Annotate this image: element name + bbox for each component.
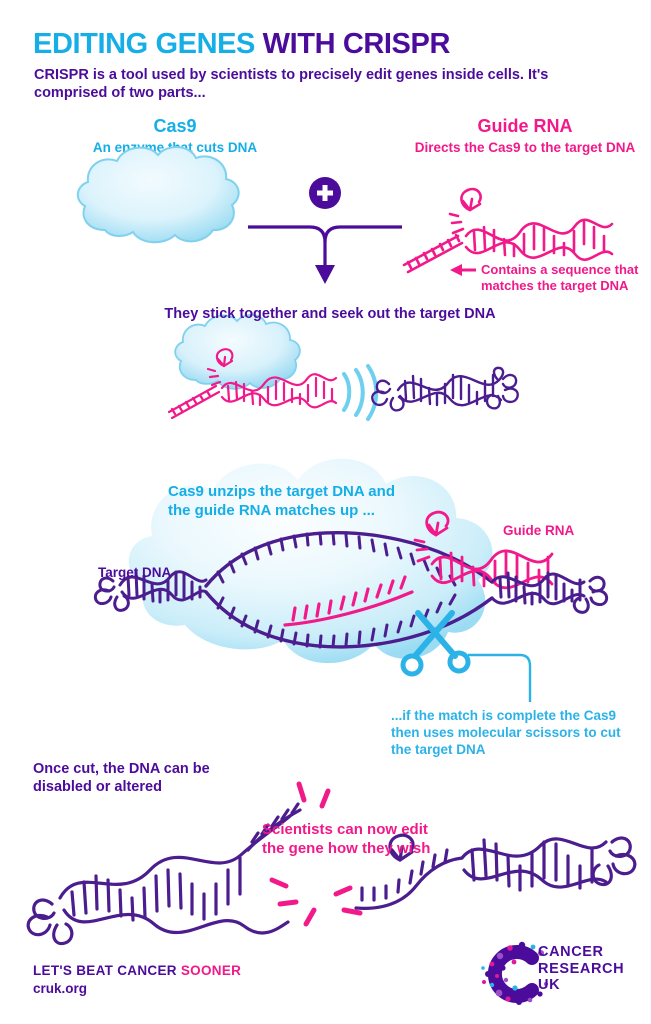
- once-cut-note: Once cut, the DNA can be disabled or alt…: [33, 760, 253, 796]
- tagline-accent: SOONER: [181, 963, 241, 978]
- cas9-cloud-icon-small: [175, 315, 300, 389]
- scissors-note: ...if the match is complete the Cas9 the…: [391, 707, 636, 758]
- guide-rna-label: Guide RNA: [503, 523, 574, 538]
- target-dna-label: Target DNA: [98, 565, 171, 580]
- signal-waves-icon: [344, 366, 376, 419]
- scissors-handles-icon: [403, 653, 468, 674]
- contains-note-arrow-icon: [450, 264, 476, 276]
- cas9-rna-complex-illustration: [169, 315, 336, 418]
- unzip-note: Cas9 unzips the target DNA and the guide…: [168, 482, 398, 520]
- target-dna-strand-icon: [372, 368, 517, 410]
- logo-line-2: RESEARCH: [538, 961, 624, 978]
- logo-line-3: UK: [538, 977, 624, 994]
- merge-arrow-icon: [248, 227, 402, 268]
- guide-rna-strand-icon: [404, 189, 612, 272]
- scientists-note: Scientists can now edit the gene how the…: [262, 820, 442, 858]
- logo-line-1: CANCER: [538, 944, 624, 961]
- cut-dna-left-icon: [28, 804, 300, 944]
- stick-together-note: They stick together and seek out the tar…: [160, 305, 500, 323]
- target-dna-right-helix-icon: [492, 573, 607, 612]
- tagline: LET'S BEAT CANCER SOONER: [33, 963, 241, 978]
- merge-arrow-head-icon: [315, 265, 335, 284]
- cas9-cloud-icon: [78, 147, 239, 242]
- crispr-components-illustration: [0, 0, 651, 470]
- scissors-leader-line: [468, 655, 530, 702]
- tagline-main: LET'S BEAT CANCER: [33, 963, 177, 978]
- cruk-url: cruk.org: [33, 981, 87, 996]
- plus-icon: [309, 177, 341, 209]
- contains-sequence-note: Contains a sequence that matches the tar…: [481, 262, 646, 293]
- cruk-logo-text: CANCER RESEARCH UK: [538, 944, 624, 994]
